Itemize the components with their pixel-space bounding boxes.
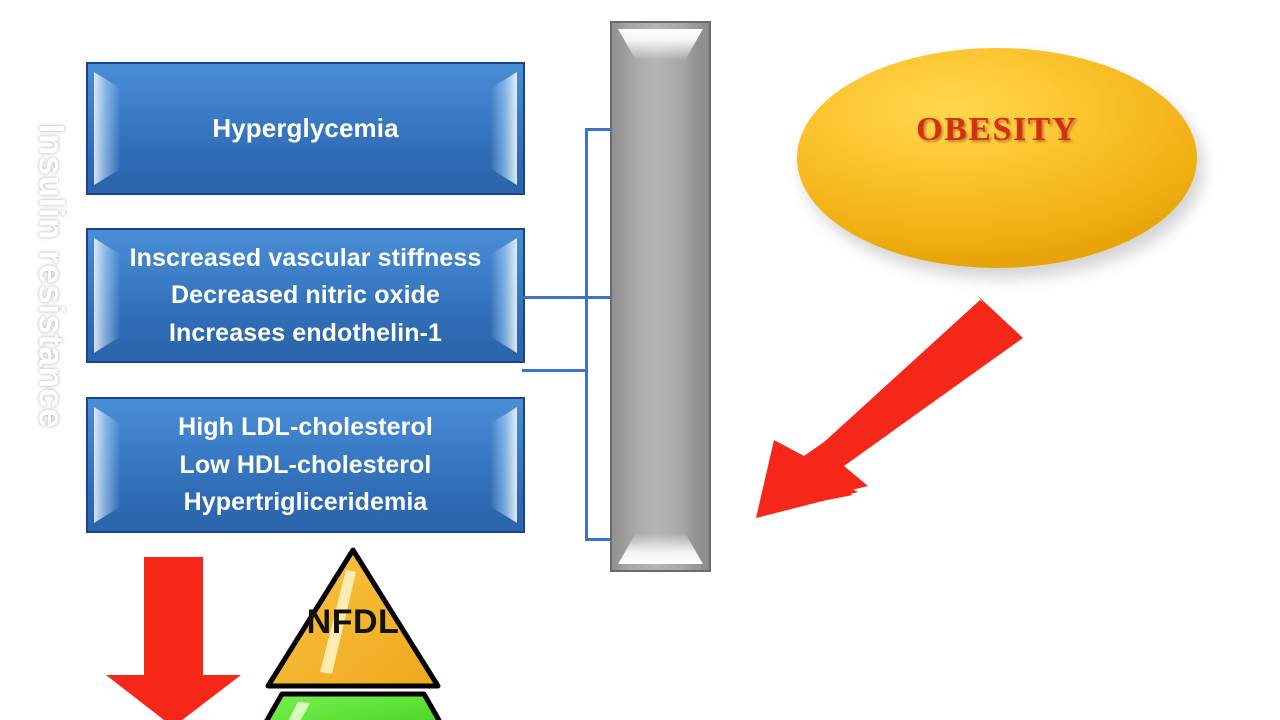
- box-vascular-effects[interactable]: Inscreased vascular stiffness Decreased …: [86, 228, 525, 363]
- bar-bevel-left: [618, 29, 640, 564]
- arrow-lipids-down-icon: [106, 557, 241, 720]
- box-vascular-line-3: Increases endothelin-1: [169, 318, 442, 349]
- connector-stub-lower: [522, 369, 588, 372]
- box-lipid-profile[interactable]: High LDL-cholesterol Low HDL-cholesterol…: [86, 397, 525, 533]
- bar-bevel-right: [681, 29, 703, 564]
- bar-insulin-resistance-label-wrap: Insulin resistance: [0, 0, 101, 551]
- pyramid-nfdl: [258, 546, 448, 720]
- connector-spine-vertical: [585, 128, 588, 541]
- box-hyperglycemia-line-1: Hyperglycemia: [212, 113, 398, 145]
- bar-insulin-resistance-label: Insulin resistance: [31, 123, 71, 428]
- box-lipids-line-3: Hypertrigliceridemia: [184, 487, 428, 518]
- ellipse-obesity[interactable]: OBESITY: [797, 48, 1197, 268]
- box-hyperglycemia[interactable]: Hyperglycemia: [86, 62, 525, 195]
- bar-bevel-top: [618, 29, 703, 59]
- box-vascular-line-2: Decreased nitric oxide: [171, 280, 440, 311]
- ellipse-obesity-label: OBESITY: [916, 111, 1078, 149]
- connector-stub-top: [585, 128, 613, 131]
- pyramid-tier-top: [268, 550, 438, 686]
- box-lipids-line-2: Low HDL-cholesterol: [180, 450, 432, 481]
- box-lipids-line-1: High LDL-cholesterol: [178, 412, 433, 443]
- diagram-canvas: Hyperglycemia Inscreased vascular stiffn…: [0, 0, 1280, 720]
- arrow-obesity-down-left-icon: [748, 296, 1023, 518]
- connector-stub-bottom: [585, 538, 613, 541]
- bar-bevel-bottom: [618, 534, 703, 564]
- connector-stub-middle: [522, 296, 613, 299]
- pyramid-tier-second: [258, 694, 448, 720]
- box-vascular-line-1: Inscreased vascular stiffness: [130, 243, 482, 274]
- bar-insulin-resistance[interactable]: [610, 21, 711, 572]
